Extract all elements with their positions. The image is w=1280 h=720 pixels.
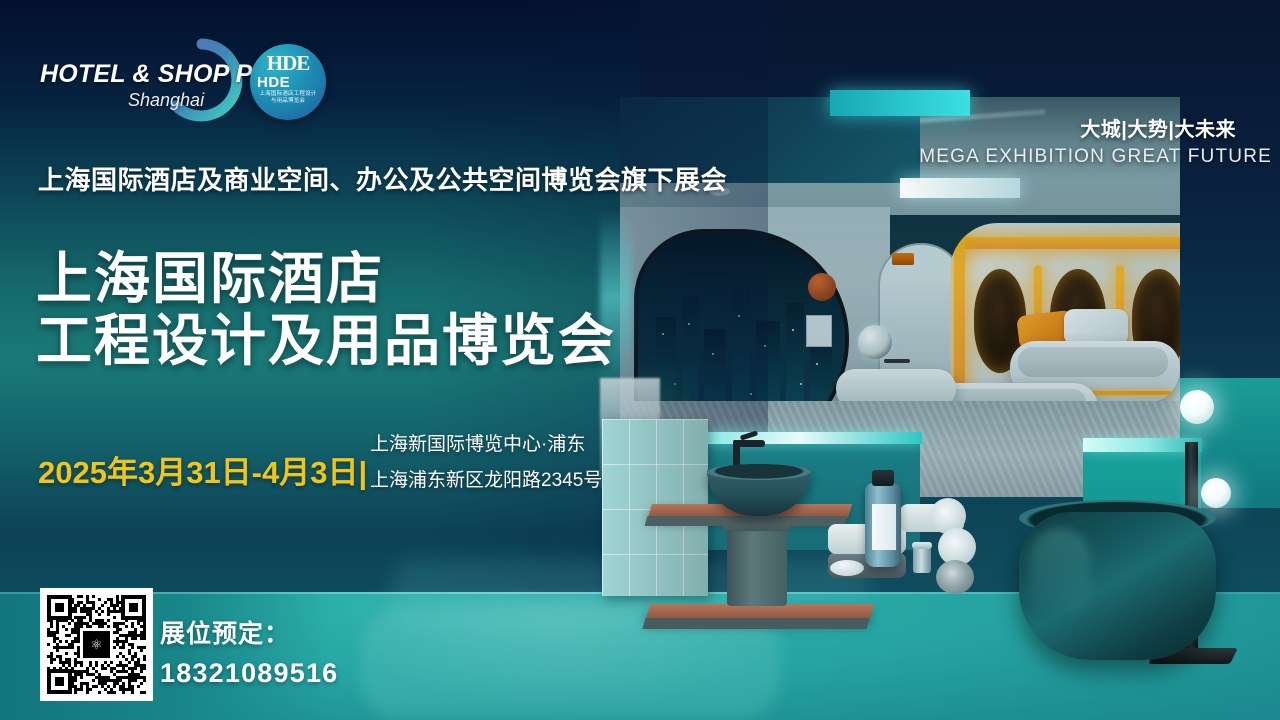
event-date: 2025年3月31日-4月3日| xyxy=(38,447,367,492)
bathtub-highlight xyxy=(1030,528,1090,620)
towel-roll-3 xyxy=(936,560,974,594)
booking-label: 展位预定： xyxy=(160,614,290,650)
hde-serif-mark: HDE xyxy=(250,51,326,76)
logo-city: Shanghai xyxy=(128,90,204,111)
title-line-1: 上海国际酒店 xyxy=(36,248,616,310)
wash-basin-rim xyxy=(707,464,811,480)
kicker-text: 上海国际酒店及商业空间、办公及公共空间博览会旗下展会 xyxy=(38,160,727,197)
accent-strip-right xyxy=(900,178,1020,198)
hde-chinese-caption: 上海国际酒店工程设计 与用品博览会 xyxy=(250,91,326,105)
venue-line-2: 上海浦东新区龙阳路2345号 xyxy=(370,463,602,499)
slogan-english: MEGA EXHIBITION GREAT FUTURE xyxy=(919,146,1272,168)
lamp-globe-lower xyxy=(1201,478,1231,508)
slogan-chinese: 大城|大势|大未来 xyxy=(1080,113,1236,142)
soap-dish xyxy=(830,560,864,576)
amenity-jar xyxy=(913,547,931,573)
exhibition-banner: HOTEL & SHOP PLUS Shanghai HDE HDE 上海国际酒… xyxy=(0,0,1280,720)
amenity-jar-lid xyxy=(912,542,932,549)
hde-badge[interactable]: HDE HDE 上海国际酒店工程设计 与用品博览会 xyxy=(250,44,326,120)
faucet-spout xyxy=(733,440,765,447)
title-line-2: 工程设计及用品博览会 xyxy=(36,310,616,372)
basin-pedestal xyxy=(727,524,787,606)
hde-sans-mark: HDE xyxy=(257,74,290,91)
qr-code[interactable]: ⚛ xyxy=(40,588,153,701)
page-title: 上海国际酒店 工程设计及用品博览会 xyxy=(36,248,616,372)
accent-strip-top xyxy=(830,90,970,116)
event-venue: 上海新国际博览中心·浦东 上海浦东新区龙阳路2345号 xyxy=(370,427,602,499)
booking-phone[interactable]: 18321089516 xyxy=(160,658,338,689)
amenity-bottle-cap xyxy=(872,470,894,486)
wechat-icon: ⚛ xyxy=(83,631,110,658)
lamp-globe-upper xyxy=(1180,390,1214,424)
upper-wood-shelf-edge xyxy=(645,516,848,526)
amenity-bottle-label xyxy=(872,504,896,550)
lower-wood-shelf-edge xyxy=(642,618,869,629)
venue-line-1: 上海新国际博览中心·浦东 xyxy=(370,427,602,463)
